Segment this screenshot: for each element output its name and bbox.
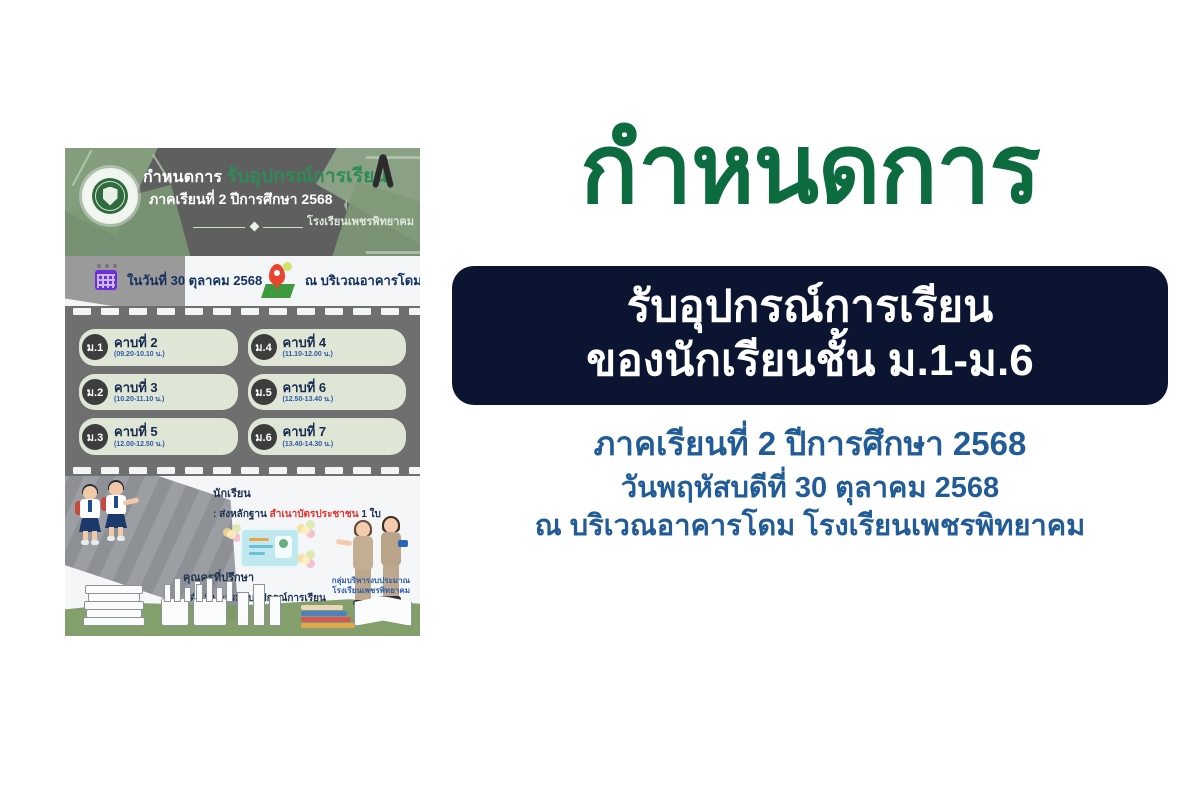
- grade-badge: ม.5: [251, 379, 277, 405]
- flower-icon: [223, 524, 241, 542]
- flower-icon: [297, 550, 315, 568]
- mourning-ribbon-icon: [374, 154, 394, 192]
- credit-line-2: โรงเรียนเพชรพิทยาคม: [332, 586, 410, 596]
- calendar-dots: [97, 264, 117, 268]
- poster-school-name: โรงเรียนเพชรพิทยาคม: [307, 212, 414, 230]
- calendar-icon: [95, 270, 117, 290]
- id-card-icon: [240, 528, 300, 568]
- period-label: คาบที่ 4: [283, 336, 333, 350]
- schedule-item: ม.2 คาบที่ 3 (10.20-11.10 น.): [79, 374, 238, 411]
- map-pin-icon: [261, 262, 295, 298]
- headline-panel-line-1: รับอุปกรณ์การเรียน: [470, 280, 1150, 334]
- flower-icon: [297, 520, 315, 538]
- grade-badge: ม.6: [251, 424, 277, 450]
- student-note-title: นักเรียน: [213, 484, 413, 502]
- headline-panel: รับอุปกรณ์การเรียน ของนักเรียนชั้น ม.1-ม…: [452, 266, 1168, 405]
- announcement-poster-image: กำหนดการ รับอุปกรณ์การเรียน ภาคเรียนที่ …: [65, 148, 420, 636]
- period-label: คาบที่ 7: [283, 425, 334, 439]
- headline-panel-line-2: ของนักเรียนชั้น ม.1-ม.6: [470, 334, 1150, 388]
- page-title: กำหนดการ: [440, 120, 1180, 252]
- detail-place-line: ณ บริเวณอาคารโดม โรงเรียนเพชรพิทยาคม: [440, 508, 1180, 546]
- credit-line-1: กลุ่มบริหารงบประมาณ: [332, 576, 410, 586]
- schedule-item: ม.6 คาบที่ 7 (13.40-14.30 น.): [248, 418, 407, 455]
- period-time: (12.50-13.40 น.): [283, 396, 334, 403]
- period-time: (09.20-10.10 น.): [114, 351, 165, 358]
- poster-header: กำหนดการ รับอุปกรณ์การเรียน ภาคเรียนที่ …: [65, 148, 420, 256]
- headline-column: กำหนดการ รับอุปกรณ์การเรียน ของนักเรียนช…: [440, 120, 1180, 546]
- grade-badge: ม.2: [82, 379, 108, 405]
- period-time: (12.00-12.50 น.): [114, 441, 165, 448]
- schedule-grid: ม.1 คาบที่ 2 (09.20-10.10 น.) ม.4 คาบที่…: [79, 329, 406, 455]
- scissors-ruler-icon: [196, 578, 233, 602]
- poster-header-subtitle: ภาคเรียนที่ 2 ปีการศึกษา 2568: [149, 189, 333, 211]
- schedule-item: ม.1 คาบที่ 2 (09.20-10.10 น.): [79, 329, 238, 366]
- poster-date-text: ในวันที่ 30 ตุลาคม 2568: [127, 270, 262, 291]
- grade-badge: ม.3: [82, 424, 108, 450]
- poster-header-title: กำหนดการ รับอุปกรณ์การเรียน: [143, 161, 388, 191]
- period-label: คาบที่ 5: [114, 425, 165, 439]
- school-seal-icon: [82, 168, 138, 224]
- detail-term-line: ภาคเรียนที่ 2 ปีการศึกษา 2568: [440, 423, 1180, 466]
- books-stack-icon: [83, 584, 145, 626]
- pencil-cup-icon: [161, 598, 189, 626]
- detail-date-line: วันพฤหัสบดีที่ 30 ตุลาคม 2568: [440, 470, 1180, 508]
- period-label: คาบที่ 2: [114, 336, 165, 350]
- poster-notes-area: นักเรียน : ส่งหลักฐาน สำเนาบัตรประชาชน 1…: [65, 476, 420, 636]
- period-time: (13.40-14.30 น.): [283, 441, 334, 448]
- poster-schedule-panel: ม.1 คาบที่ 2 (09.20-10.10 น.) ม.4 คาบที่…: [65, 317, 420, 465]
- period-time: (10.20-11.10 น.): [114, 396, 164, 403]
- filmstrip-perforation-bottom: [65, 465, 420, 476]
- poster-title-highlight: รับอุปกรณ์การเรียน: [227, 166, 388, 187]
- period-label: คาบที่ 3: [114, 381, 164, 395]
- period-time: (11.10-12.00 น.): [283, 351, 333, 358]
- period-label: คาบที่ 6: [283, 381, 334, 395]
- student-note-highlight: สำเนาบัตรประชาชน: [270, 509, 359, 520]
- grade-badge: ม.1: [82, 334, 108, 360]
- students-illustration: [77, 482, 163, 548]
- schedule-item: ม.4 คาบที่ 4 (11.10-12.00 น.): [248, 329, 407, 366]
- schedule-item: ม.5 คาบที่ 6 (12.50-13.40 น.): [248, 374, 407, 411]
- poster-date-place-band: ในวันที่ 30 ตุลาคม 2568 ณ บริเวณอาคารโดม…: [65, 256, 420, 306]
- big-pencils-icon: [237, 584, 281, 626]
- poster-credit: กลุ่มบริหารงบประมาณ โรงเรียนเพชรพิทยาคม: [332, 576, 410, 596]
- schedule-item: ม.3 คาบที่ 5 (12.00-12.50 น.): [79, 418, 238, 455]
- poster-title-prefix: กำหนดการ: [143, 169, 222, 186]
- filmstrip-perforation-top: [65, 306, 420, 317]
- headline-details: ภาคเรียนที่ 2 ปีการศึกษา 2568 วันพฤหัสบด…: [440, 423, 1180, 545]
- grade-badge: ม.4: [251, 334, 277, 360]
- poster-place-text: ณ บริเวณอาคารโดมฯ: [305, 270, 420, 291]
- stationery-holder-icon: [193, 598, 227, 626]
- student-note-prefix: : ส่งหลักฐาน: [213, 509, 270, 520]
